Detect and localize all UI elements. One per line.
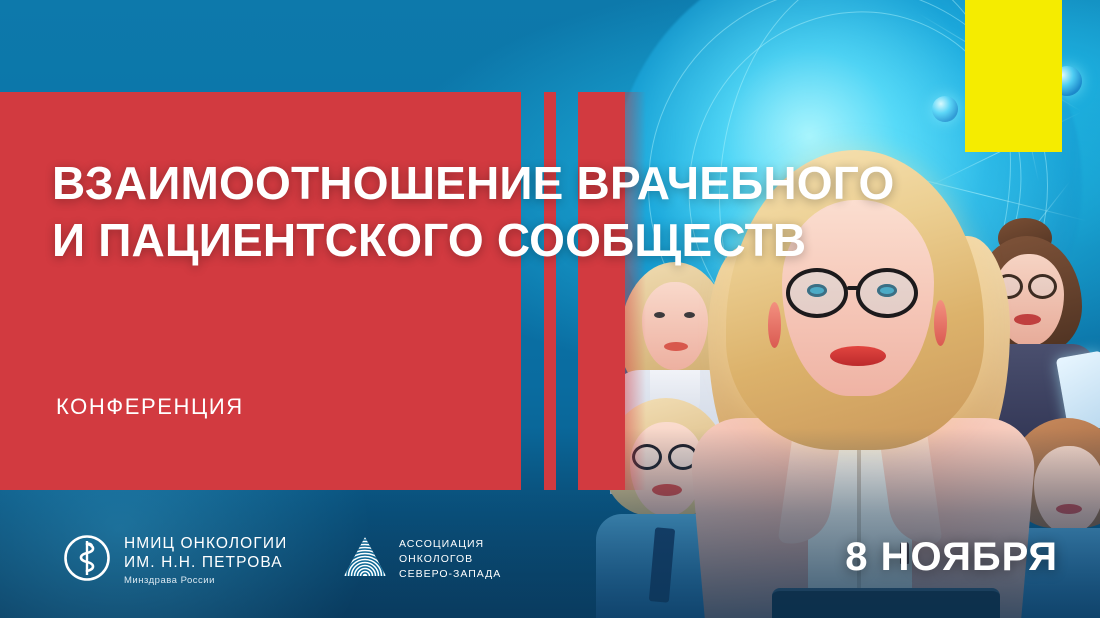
red-stripe-fade [600, 92, 646, 490]
page-title: ВЗАИМООТНОШЕНИЕ ВРАЧЕБНОГО И ПАЦИЕНТСКОГ… [52, 155, 932, 268]
logo-association-line-3: Северо-Запада [399, 567, 501, 582]
title-line-1: ВЗАИМООТНОШЕНИЕ ВРАЧЕБНОГО [52, 155, 932, 212]
event-type-label: КОНФЕРЕНЦИЯ [56, 394, 244, 420]
eyeglasses-icon [856, 268, 918, 318]
logo-nmic-line-1: НМИЦ ОНКОЛОГИИ [124, 535, 287, 554]
yellow-accent-block [965, 0, 1062, 152]
network-orb [932, 96, 958, 122]
logo-association-text: Ассоциация онкологов Северо-Запада [399, 537, 501, 582]
eyeglasses-icon [786, 268, 848, 318]
logo-nmic-text: НМИЦ ОНКОЛОГИИ ИМ. Н.Н. ПЕТРОВА Минздрав… [124, 535, 287, 587]
logo-association-oncologists: Ассоциация онкологов Северо-Запада [342, 535, 501, 584]
conference-poster: ВЗАИМООТНОШЕНИЕ ВРАЧЕБНОГО И ПАЦИЕНТСКОГ… [0, 0, 1100, 618]
title-line-2: И ПАЦИЕНТСКОГО СООБЩЕСТВ [52, 212, 932, 269]
logo-nmic-oncology: НМИЦ ОНКОЛОГИИ ИМ. Н.Н. ПЕТРОВА Минздрав… [62, 533, 287, 588]
logo-association-line-2: онкологов [399, 552, 501, 567]
event-date: 8 НОЯБРЯ [845, 535, 1058, 580]
asclepius-rod-circle-icon [62, 533, 112, 588]
logo-nmic-line-3: Минздрава России [124, 575, 287, 586]
pyramid-rings-icon [342, 535, 388, 584]
logo-association-line-1: Ассоциация [399, 537, 501, 552]
red-panel [0, 92, 521, 490]
logo-nmic-line-2: ИМ. Н.Н. ПЕТРОВА [124, 554, 287, 573]
red-stripe [544, 92, 556, 490]
